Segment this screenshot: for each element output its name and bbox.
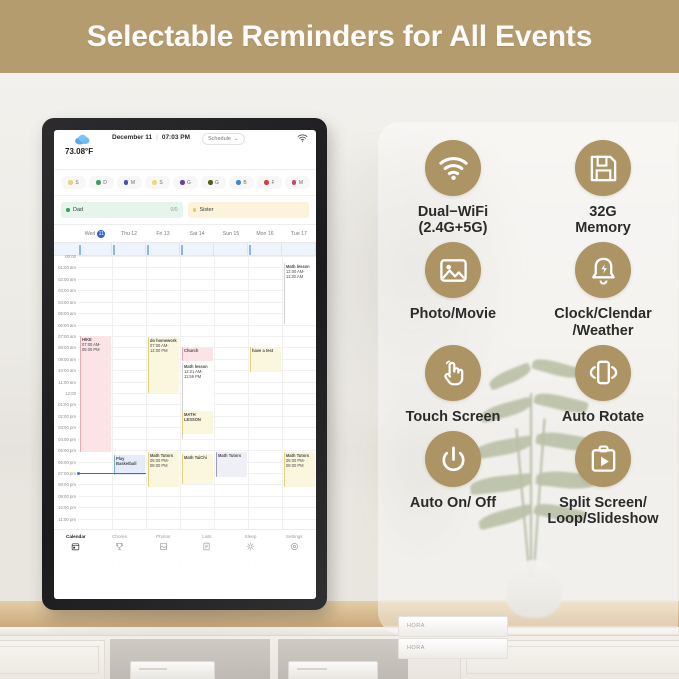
feature-label: Clock/Clendar /Weather [554,306,652,338]
member-color-dot [236,180,241,185]
day-column-mon[interactable]: Mon 16 [248,225,282,242]
nav-item-sleep[interactable]: Sleep [229,534,273,565]
member-color-dot [180,180,185,185]
member-initial: B [243,180,246,186]
time-label: 07:00 pm [58,471,76,476]
time-label: 04:00 pm [58,437,76,442]
paper-box: HORA [398,638,508,659]
member-color-dot [124,180,129,185]
grid-hour-line [78,267,316,268]
calendar-event[interactable]: do homework07:00 AM-12:00 PM [148,337,179,393]
feature-label: Photo/Movie [410,306,496,322]
event-title: MATH LESSON [184,412,211,422]
event-time: 05:00 PM-08:00 PM [286,458,313,468]
feature-badge [575,431,631,487]
calendar-icon [71,542,80,551]
task-count: 0/0 [171,207,178,213]
event-title: Church [184,348,211,353]
task-card-list: Dad 0/0 Sister [54,196,316,224]
feature-badge [425,345,481,401]
grid-hour-line [78,484,316,485]
grid-hour-line [78,519,316,520]
time-label: 02:00 am [58,277,76,282]
storage-box [288,661,378,679]
task-card-sister[interactable]: Sister [188,202,310,218]
day-column-tue[interactable]: Tue 17 [282,225,316,242]
trophy-icon [115,542,124,551]
member-color-dot [208,180,213,185]
view-selector-label: Schedule [208,136,231,142]
feature-clock-calendar-weather: Clock/Clendar /Weather [528,242,678,338]
feature-badge [425,242,481,298]
day-column-wed[interactable]: Wed 11 [78,225,112,242]
feature-split-screen: Split Screen/ Loop/Slideshow [528,431,678,527]
feature-label: Touch Screen [406,409,501,425]
room-scene: 73.08°F December 11 | 07:03 PM Schedule … [0,73,679,679]
current-time-line [78,473,146,474]
day-column-thu[interactable]: Thu 12 [112,225,146,242]
event-title: have a test [252,348,279,353]
member-chip[interactable]: B [229,176,254,189]
event-time: 07:00 AM-12:00 PM [150,343,177,353]
time-label: 01:00 pm [58,402,76,407]
all-day-cell[interactable] [214,243,248,255]
nav-item-settings[interactable]: Settings [272,534,316,565]
time-label: 09:00 pm [58,494,76,499]
event-time: 05:00 PM-08:00 PM [150,458,177,468]
calendar-event[interactable]: HIKE07:00 AM-05:00 PM [80,336,111,452]
datetime-display: December 11 | 07:03 PM [112,134,190,141]
nav-label: Photos [156,534,170,539]
calendar-grid[interactable]: 00:0001:00 am02:00 am03:00 am04:00 am05:… [54,256,316,566]
wifi-icon [297,134,308,142]
feature-label: Auto On/ Off [410,495,496,511]
image-icon [438,255,469,286]
alarm-bell-icon [588,255,619,286]
time-label: 08:00 am [58,345,76,350]
feature-badge [575,345,631,401]
cabinet-open-shelf [278,639,408,679]
temperature-value: 73.08°F [65,147,93,156]
event-title: Math TaiChi [184,455,211,460]
grid-hour-line [78,336,316,337]
photo-frame-icon [159,542,168,551]
time-label: 07:00 am [58,334,76,339]
all-day-marker [181,245,183,255]
time-label: 03:00 pm [58,425,76,430]
time-label: 11:00 pm [58,517,76,522]
time-label: 01:00 am [58,265,76,270]
nav-item-lists[interactable]: Lists [185,534,229,565]
list-icon [202,542,211,551]
rotate-device-icon [588,357,619,388]
calendar-event[interactable]: have a test [250,347,281,372]
grid-hour-line [78,279,316,280]
grid-hour-line [78,450,316,451]
member-chip-list: S D M S G G B [54,170,316,196]
wifi-icon [438,153,469,184]
time-label: 00:00 [65,254,76,259]
all-day-marker [249,245,251,255]
all-day-cell[interactable] [248,243,282,255]
feature-label: 32G Memory [575,204,631,236]
calendar-day-header: Wed 11 Thu 12 Fri 13 Sat 14 Sun 15 Mon 1… [54,225,316,242]
nav-label: Calendar [66,534,86,539]
page-title: Selectable Reminders for All Events [87,20,592,54]
member-color-dot [152,180,157,185]
nav-label: Sleep [245,534,257,539]
grid-day-line [146,256,147,566]
credenza-body [0,636,679,679]
view-selector-dropdown[interactable]: Schedule ⌄ [202,133,245,145]
day-label: Fri 13 [156,231,169,237]
grid-day-line [112,256,113,566]
time-label: 10:00 am [58,368,76,373]
member-initial: G [187,180,191,186]
box-brand-label: HORA [407,645,425,651]
event-time: 07:00 AM-05:00 PM [82,342,109,352]
member-initial: D [103,180,107,186]
time-label: 05:00 pm [58,448,76,453]
time-axis: 00:0001:00 am02:00 am03:00 am04:00 am05:… [54,256,78,566]
event-time: 12:21 AM-11:59 PM [184,369,211,379]
member-chip[interactable]: M [285,176,310,189]
power-icon [438,444,469,475]
all-day-cell[interactable] [180,243,214,255]
datetime-separator: | [156,134,158,141]
member-chip[interactable]: S [145,176,170,189]
day-column-sun[interactable]: Sun 15 [214,225,248,242]
tablet-bottom-nav: Calendar Chores [54,529,316,565]
day-label: Tue 17 [291,231,307,237]
member-chip[interactable]: D [89,176,114,189]
nav-label: Chores [112,534,127,539]
grid-hour-line [78,496,316,497]
feature-dual-wifi: Dual−WiFi (2.4G+5G) [378,140,528,236]
chevron-down-icon: ⌄ [234,136,239,142]
calendar-event[interactable]: Math TaiChi [182,454,213,485]
day-label: Wed [85,231,96,237]
feature-memory: 32G Memory [528,140,678,236]
feature-panel: Dual−WiFi (2.4G+5G) 32G Memory [378,122,678,634]
nav-item-calendar[interactable]: Calendar [54,534,98,565]
current-time: 07:03 PM [162,134,190,141]
grid-day-line [180,256,181,566]
member-chip[interactable]: M [117,176,142,189]
header-banner: Selectable Reminders for All Events [0,0,679,73]
day-label: Sun 15 [223,231,239,237]
current-date: December 11 [112,134,152,141]
nav-item-chores[interactable]: Chores [98,534,142,565]
member-color-dot [292,180,297,185]
today-badge: 11 [97,230,105,238]
day-column-fri[interactable]: Fri 13 [146,225,180,242]
member-initial: S [75,180,78,186]
time-label: 02:00 pm [58,414,76,419]
floppy-disk-icon [588,153,619,184]
sun-icon [246,542,255,551]
grid-hour-line [78,507,316,508]
grid-hour-line [78,325,316,326]
event-title: Play Basketball [116,456,143,466]
all-day-cell[interactable] [112,243,146,255]
event-title: Math Tutors [218,453,245,458]
time-label: 06:00 am [58,323,76,328]
feature-label: Auto Rotate [562,409,644,425]
clipboard-play-icon [588,444,619,475]
time-label: 05:00 am [58,311,76,316]
calendar-event[interactable]: Math lesson12:00 AM-11:30 AM [284,263,315,325]
all-day-cell[interactable] [282,243,316,255]
grid-day-line [248,256,249,566]
paper-box-stack: HORA HORA [398,616,508,664]
member-initial: S [159,180,162,186]
cabinet-door [0,640,105,679]
cabinet-door-inset [0,646,99,674]
member-initial: M [131,180,135,186]
feature-badge [575,140,631,196]
calendar-view[interactable]: Wed 11 Thu 12 Fri 13 Sat 14 Sun 15 Mon 1… [54,224,316,565]
feature-badge [575,242,631,298]
member-color-dot [96,180,101,185]
grid-hour-line [78,290,316,291]
member-chip[interactable]: G [201,176,226,189]
feature-touch-screen: Touch Screen [378,345,528,425]
calendar-event[interactable]: MATH LESSON [182,411,213,434]
member-color-dot [264,180,269,185]
grid-hour-line [78,439,316,440]
tablet-status-bar: 73.08°F December 11 | 07:03 PM Schedule … [54,130,316,170]
task-color-dot [66,208,70,212]
grid-hour-line [78,302,316,303]
feature-badge [425,140,481,196]
grid-day-line [282,256,283,566]
task-color-dot [193,208,197,212]
calendar-event[interactable]: Math Tutors05:00 PM-08:00 PM [148,452,179,486]
grid-hour-line [78,256,316,257]
storage-box [130,661,215,679]
grid-day-line [214,256,215,566]
member-initial: M [299,180,303,186]
tablet-screen[interactable]: 73.08°F December 11 | 07:03 PM Schedule … [54,130,316,599]
paper-box: HORA [398,616,508,637]
time-label: 12:00 [65,391,76,396]
day-column-sat[interactable]: Sat 14 [180,225,214,242]
calendar-event[interactable]: Math Tutors05:00 PM-08:00 PM [284,452,315,486]
time-label: 06:00 pm [58,460,76,465]
all-day-marker [147,245,149,255]
day-label: Thu 12 [121,231,137,237]
time-label: 11:00 am [58,380,76,385]
member-initial: F [271,180,274,186]
feature-grid: Dual−WiFi (2.4G+5G) 32G Memory [378,140,678,528]
calendar-grid-body[interactable]: HIKE07:00 AM-05:00 PMPlay BasketballPlay… [78,256,316,566]
feature-badge [425,431,481,487]
time-label: 04:00 am [58,300,76,305]
cabinet-open-shelf [110,639,270,679]
grid-hour-line [78,313,316,314]
calendar-event[interactable]: Church [182,347,213,361]
task-name: Sister [200,207,214,213]
task-card-dad[interactable]: Dad 0/0 [61,202,183,218]
time-label: 10:00 pm [58,505,76,510]
event-time: 12:00 AM-11:30 AM [286,269,313,279]
day-label: Mon 16 [256,231,273,237]
touch-hand-icon [438,357,469,388]
all-day-row[interactable] [54,242,316,256]
all-day-marker [113,245,115,255]
all-day-cell[interactable] [146,243,180,255]
member-chip[interactable]: G [173,176,198,189]
day-label: Sat 14 [190,231,205,237]
time-label: 08:00 pm [58,482,76,487]
nav-item-photos[interactable]: Photos [141,534,185,565]
all-day-marker [79,245,81,255]
member-initial: G [215,180,219,186]
cloud-icon [74,134,91,145]
box-brand-label: HORA [407,623,425,629]
nav-label: Lists [202,534,211,539]
feature-auto-rotate: Auto Rotate [528,345,678,425]
member-chip[interactable]: F [257,176,282,189]
task-name: Dad [73,207,83,213]
nav-label: Settings [286,534,303,539]
feature-auto-on-off: Auto On/ Off [378,431,528,527]
time-label: 03:00 am [58,288,76,293]
time-label: 09:00 am [58,357,76,362]
calendar-event[interactable]: Math Tutors [216,452,247,477]
calendar-event[interactable]: Play Basketball [114,455,145,476]
feature-label: Dual−WiFi (2.4G+5G) [418,204,488,236]
member-chip[interactable]: S [61,176,86,189]
all-day-cell[interactable] [78,243,112,255]
member-color-dot [68,180,73,185]
feature-photo-movie: Photo/Movie [378,242,528,338]
gear-icon [290,542,299,551]
feature-label: Split Screen/ Loop/Slideshow [547,495,658,527]
